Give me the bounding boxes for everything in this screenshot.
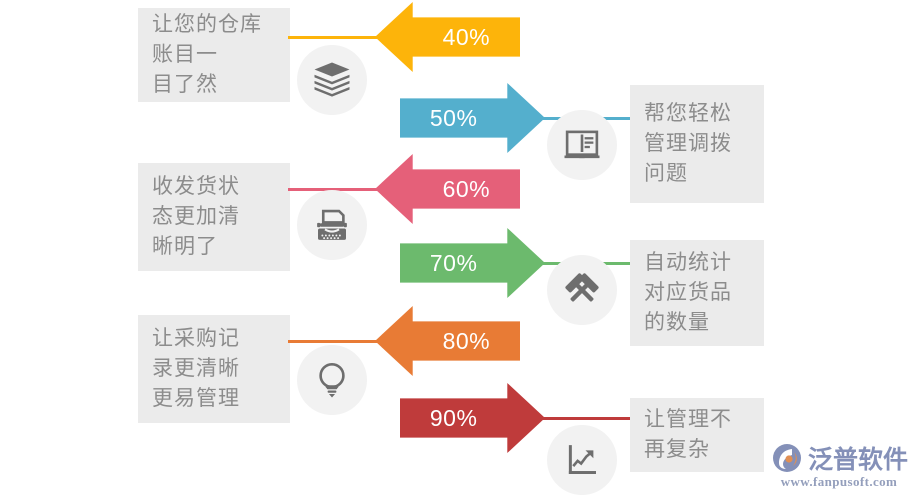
icon-circle-row-5: [297, 345, 367, 415]
label-card-row-2: 帮您轻松 管理调拨 问题: [630, 85, 764, 203]
label-card-text: 收发货状 态更加清 晰明了: [152, 172, 240, 262]
icon-circle-row-4: [547, 255, 617, 325]
label-card-text: 让您的仓库账目一 目了然: [152, 10, 276, 100]
books-icon: [311, 59, 353, 101]
arrow-row-1[interactable]: 40%: [375, 2, 520, 72]
arrow-row-2[interactable]: 50%: [400, 83, 545, 153]
label-card-text: 自动统计 对应货品 的数量: [644, 248, 732, 338]
connector-row-6: [530, 417, 638, 420]
label-card-row-3: 收发货状 态更加清 晰明了: [138, 163, 290, 271]
fanpu-logo-mark-icon: [770, 442, 804, 474]
open-book-icon: [561, 124, 603, 166]
percent-label-row-6: 90%: [400, 405, 545, 432]
brand-url: www.fanpusoft.com: [781, 474, 898, 490]
label-card-row-6: 让管理不 再复杂: [630, 398, 764, 472]
label-card-row-4: 自动统计 对应货品 的数量: [630, 240, 764, 346]
icon-circle-row-1: [297, 45, 367, 115]
label-card-text: 让管理不 再复杂: [644, 405, 732, 465]
percent-label-row-1: 40%: [375, 24, 520, 51]
arrow-row-4[interactable]: 70%: [400, 228, 545, 298]
icon-circle-row-3: [297, 190, 367, 260]
label-card-row-1: 让您的仓库账目一 目了然: [138, 8, 290, 102]
arrow-row-5[interactable]: 80%: [375, 306, 520, 376]
line-chart-icon: [561, 439, 603, 481]
percent-label-row-2: 50%: [400, 105, 545, 132]
hammers-icon: [561, 269, 603, 311]
label-card-text: 帮您轻松 管理调拨 问题: [644, 99, 732, 189]
percent-label-row-5: 80%: [375, 328, 520, 355]
infographic-canvas: 让您的仓库账目一 目了然 40% 50%: [0, 0, 920, 500]
label-card-row-5: 让采购记 录更清晰 更易管理: [138, 315, 290, 423]
percent-label-row-4: 70%: [400, 250, 545, 277]
brand-logo-row: 泛普软件: [770, 440, 908, 476]
arrow-row-6[interactable]: 90%: [400, 383, 545, 453]
brand-logo: 泛普软件 www.fanpusoft.com: [770, 440, 908, 490]
percent-label-row-3: 60%: [375, 176, 520, 203]
label-card-text: 让采购记 录更清晰 更易管理: [152, 324, 240, 414]
lightbulb-icon: [311, 359, 353, 401]
arrow-row-3[interactable]: 60%: [375, 154, 520, 224]
icon-circle-row-2: [547, 110, 617, 180]
icon-circle-row-6: [547, 425, 617, 495]
typewriter-icon: [311, 204, 353, 246]
brand-name: 泛普软件: [808, 440, 908, 476]
